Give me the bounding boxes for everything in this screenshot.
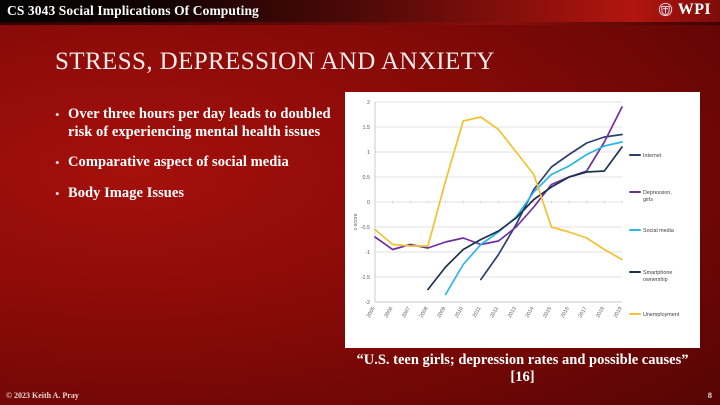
svg-text:2011: 2011 (472, 306, 483, 319)
svg-text:-0.5: -0.5 (361, 225, 370, 231)
page-title: STRESS, DEPRESSION AND ANXIETY (55, 48, 495, 76)
chart-caption: “U.S. teen girls; depression rates and p… (345, 352, 700, 386)
list-item: • Comparative aspect of social media (55, 154, 340, 172)
header-underline (0, 22, 720, 25)
chart-panel: 21.510.50-0.5-1-1.5-2 200520062007200820… (345, 92, 700, 348)
svg-text:0.5: 0.5 (363, 175, 371, 181)
svg-text:2017: 2017 (577, 306, 588, 319)
svg-text:2010: 2010 (454, 306, 465, 319)
bullet-list: • Over three hours per day leads to doub… (55, 106, 340, 215)
chart-series-lines (375, 107, 622, 295)
list-item: • Over three hours per day leads to doub… (55, 106, 340, 141)
wpi-seal-icon (657, 1, 674, 18)
svg-text:2016: 2016 (560, 306, 571, 319)
svg-text:2: 2 (367, 100, 370, 106)
header-bar: CS 3043 Social Implications Of Computing (0, 0, 720, 22)
line-chart: 21.510.50-0.5-1-1.5-2 200520062007200820… (345, 92, 700, 348)
svg-text:2012: 2012 (489, 306, 500, 319)
svg-text:-1.5: -1.5 (361, 275, 370, 281)
svg-text:2014: 2014 (525, 306, 536, 319)
chart-y-axis-label: z-score (353, 213, 359, 230)
svg-text:2006: 2006 (383, 306, 394, 319)
bullet-text: Over three hours per day leads to double… (68, 106, 340, 141)
chart-legend: InternetDepression,girlsSocial mediaSmar… (630, 153, 680, 318)
bullet-marker-icon: • (55, 154, 68, 172)
svg-text:2005: 2005 (366, 306, 377, 319)
bullet-text: Comparative aspect of social media (68, 154, 289, 172)
svg-text:0: 0 (367, 200, 370, 206)
svg-text:Depression,: Depression, (643, 190, 672, 196)
svg-text:2013: 2013 (507, 306, 518, 319)
svg-text:girls: girls (643, 197, 653, 203)
wpi-wordmark: WPI (678, 2, 711, 18)
list-item: • Body Image Issues (55, 185, 340, 203)
course-title: CS 3043 Social Implications Of Computing (7, 3, 259, 19)
svg-text:2008: 2008 (419, 306, 430, 319)
svg-text:-1: -1 (365, 250, 370, 256)
bullet-text: Body Image Issues (68, 185, 184, 203)
bullet-marker-icon: • (55, 106, 68, 141)
svg-text:ownership: ownership (643, 277, 668, 283)
chart-y-tick-labels: 21.510.50-0.5-1-1.5-2 (361, 100, 370, 306)
svg-text:2009: 2009 (436, 306, 447, 319)
footer-copyright: © 2023 Keith A. Pray (6, 391, 79, 400)
svg-text:2007: 2007 (401, 306, 412, 319)
svg-text:Internet: Internet (643, 153, 662, 159)
footer-page-number: 8 (708, 390, 712, 400)
svg-text:Unemployment: Unemployment (643, 312, 680, 318)
svg-text:Smartphone: Smartphone (643, 270, 672, 276)
bullet-marker-icon: • (55, 185, 68, 203)
slide-canvas: CS 3043 Social Implications Of Computing… (0, 0, 720, 405)
svg-text:2019: 2019 (613, 306, 624, 319)
svg-text:1.5: 1.5 (363, 125, 371, 131)
chart-x-tick-labels: 2005200620072008200920102011201220132014… (366, 306, 624, 319)
svg-text:1: 1 (367, 150, 370, 156)
svg-text:-2: -2 (365, 300, 370, 306)
svg-text:2018: 2018 (595, 306, 606, 319)
wpi-logo: WPI (657, 1, 711, 18)
svg-text:Social media: Social media (643, 228, 674, 234)
svg-text:2015: 2015 (542, 306, 553, 319)
